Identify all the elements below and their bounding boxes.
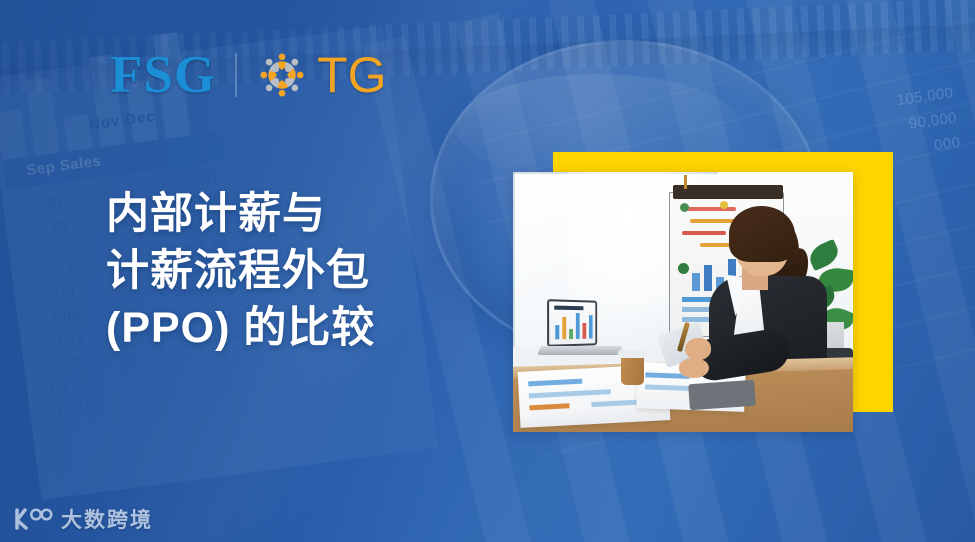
logo-divider [235,53,237,97]
laptop-screen-title [554,306,583,311]
people-circle-icon [256,49,308,101]
watermark-text: 大数跨境 [61,504,153,534]
photo-person-hair [729,206,795,262]
photo-person-hand [685,338,711,360]
title-line-2: 计薪流程外包 [106,243,476,300]
photo-coffee-cup [621,355,644,385]
title-line-3: (PPO) 的比较 [106,300,476,357]
logo-lockup: FSG [110,44,387,106]
watermark: 大数跨境 [12,504,153,534]
photo-notebook [688,380,756,411]
photo-laptop-screen [547,299,597,347]
photo-person-hand [679,358,709,378]
hero-photo [513,172,853,432]
photo-flipchart-pin [684,175,687,189]
photo-coffee-cup-lid [618,350,647,358]
banner-root: Nov Dec Sep Sales 8725.50.277411.083.333… [0,0,975,542]
hero-photo-wrap [513,172,853,432]
photo-flipchart-clip [673,185,783,199]
photo-laptop-base [537,346,623,355]
title-line-1: 内部计薪与 [106,186,476,243]
page-title: 内部计薪与 计薪流程外包 (PPO) 的比较 [106,186,476,357]
tg-logo-group: TG [256,49,386,101]
fsg-logo-text: FSG [110,49,216,102]
tg-logo-text: TG [317,50,386,100]
k-infinity-icon [12,506,54,532]
